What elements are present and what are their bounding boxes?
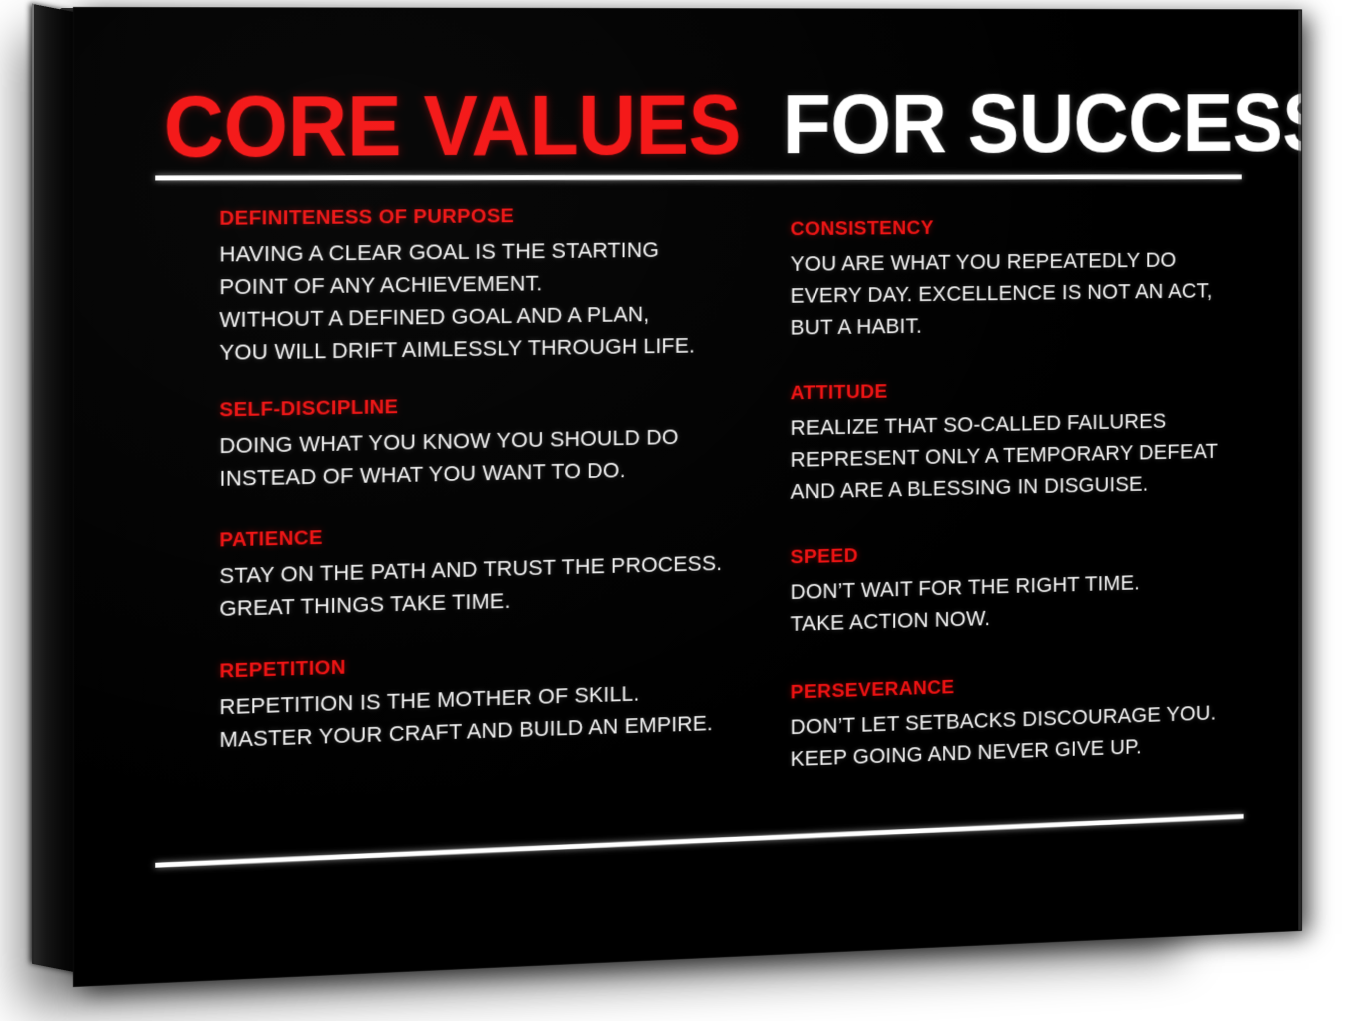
canvas-edge-highlight xyxy=(32,4,34,964)
value-section: REPETITION REPETITION IS THE MOTHER OF S… xyxy=(219,643,741,755)
value-section: CONSISTENCY YOU ARE WHAT YOU REPEATEDLY … xyxy=(791,214,1229,343)
canvas-right-edge xyxy=(1298,10,1301,930)
value-section: SPEED DON’T WAIT FOR THE RIGHT TIME. TAK… xyxy=(791,535,1229,640)
value-section: PATIENCE STAY ON THE PATH AND TRUST THE … xyxy=(219,517,741,626)
value-section: DEFINITENESS OF PURPOSE HAVING A CLEAR G… xyxy=(219,203,741,369)
canvas-front-face: CORE VALUES FOR SUCCESS DEFINITENESS OF … xyxy=(74,8,1301,986)
value-body: DON’T WAIT FOR THE RIGHT TIME. TAKE ACTI… xyxy=(791,565,1229,641)
values-columns: DEFINITENESS OF PURPOSE HAVING A CLEAR G… xyxy=(74,198,1301,848)
canvas-wall-art: CORE VALUES FOR SUCCESS DEFINITENESS OF … xyxy=(0,0,1346,1021)
values-column-left: DEFINITENESS OF PURPOSE HAVING A CLEAR G… xyxy=(219,203,741,778)
value-heading: SPEED xyxy=(791,536,1208,570)
value-line: BUT A HABIT. xyxy=(791,306,1212,344)
value-section: PERSEVERANCE DON’T LET SETBACKS DISCOURA… xyxy=(791,667,1229,775)
artwork-content: CORE VALUES FOR SUCCESS DEFINITENESS OF … xyxy=(74,8,1301,986)
values-column-right: CONSISTENCY YOU ARE WHAT YOU REPEATEDLY … xyxy=(791,199,1229,796)
value-heading: ATTITUDE xyxy=(791,375,1208,405)
title-core-values: CORE VALUES xyxy=(164,83,742,171)
value-body: HAVING A CLEAR GOAL IS THE STARTING POIN… xyxy=(219,233,741,369)
product-photo-stage: CORE VALUES FOR SUCCESS DEFINITENESS OF … xyxy=(0,0,1346,1021)
value-line: YOU ARE WHAT YOU REPEATEDLY DO xyxy=(791,244,1212,280)
poster-title: CORE VALUES FOR SUCCESS xyxy=(164,82,1244,171)
title-for-success: FOR SUCCESS xyxy=(783,82,1301,167)
value-heading: DEFINITENESS OF PURPOSE xyxy=(219,203,716,231)
value-heading: CONSISTENCY xyxy=(791,214,1208,241)
value-section: ATTITUDE REALIZE THAT SO-CALLED FAILURES… xyxy=(791,375,1229,508)
title-divider-rule xyxy=(155,175,1241,181)
value-body: REPETITION IS THE MOTHER OF SKILL. MASTE… xyxy=(219,673,741,755)
value-section: SELF-DISCIPLINE DOING WHAT YOU KNOW YOU … xyxy=(219,390,741,495)
value-body: DON’T LET SETBACKS DISCOURAGE YOU. KEEP … xyxy=(791,696,1229,774)
value-heading: SELF-DISCIPLINE xyxy=(219,390,716,422)
value-body: STAY ON THE PATH AND TRUST THE PROCESS. … xyxy=(219,547,741,626)
value-body: REALIZE THAT SO-CALLED FAILURES REPRESEN… xyxy=(791,404,1229,508)
value-body: DOING WHAT YOU KNOW YOU SHOULD DO INSTEA… xyxy=(219,420,741,495)
value-body: YOU ARE WHAT YOU REPEATEDLY DO EVERY DAY… xyxy=(791,243,1229,343)
value-heading: PATIENCE xyxy=(219,517,716,553)
value-line: YOU WILL DRIFT AIMLESSLY THROUGH LIFE. xyxy=(219,329,721,369)
